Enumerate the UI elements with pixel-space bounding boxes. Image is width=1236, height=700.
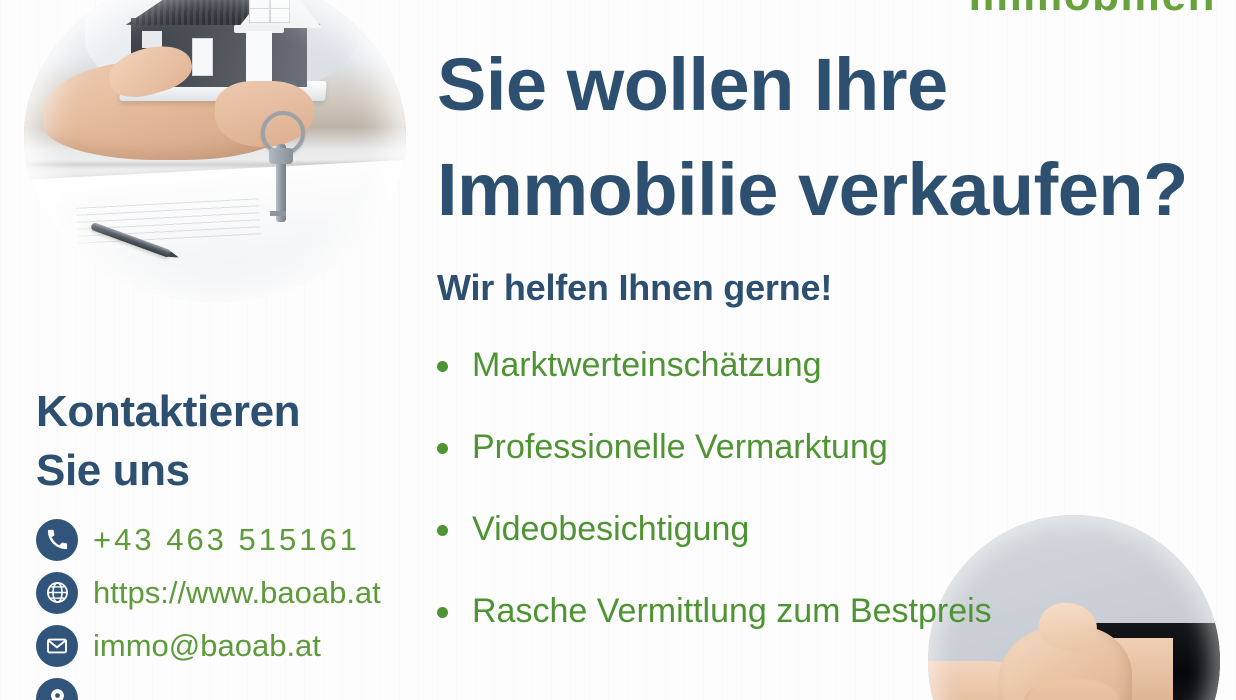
house-photo-model-door — [246, 31, 273, 87]
house-photo — [24, 0, 406, 302]
contact-email-value: immo@baoab.at — [93, 629, 321, 663]
contact-heading-line-2: Sie uns — [36, 441, 406, 500]
phone-icon — [36, 519, 78, 561]
benefit-label: Rasche Vermittlung zum Bestpreis — [472, 591, 992, 632]
page-title: Sie wollen Ihre Immobilie verkaufen? — [437, 32, 1217, 242]
contact-website-value: https://www.baoab.at — [93, 576, 381, 610]
house-photo-model-window-side — [192, 38, 213, 76]
globe-icon — [36, 572, 78, 614]
list-item: Rasche Vermittlung zum Bestpreis — [437, 591, 1217, 632]
bullet-dot-icon — [437, 525, 448, 536]
contact-phone-value: +43 463 515161 — [93, 523, 360, 557]
envelope-icon — [36, 625, 78, 667]
contact-row-address[interactable] — [36, 678, 406, 700]
headline-line-1: Sie wollen Ihre — [437, 32, 1217, 137]
benefit-label: Videobesichtigung — [472, 509, 749, 550]
main-message-column: Sie wollen Ihre Immobilie verkaufen? Wir… — [437, 32, 1217, 673]
flyer-page: Immobilien — [0, 0, 1236, 700]
house-photo-key — [276, 144, 286, 222]
brand-logo-text: Immobilien — [756, 0, 1216, 12]
benefits-list: Marktwerteinschätzung Professionelle Ver… — [437, 345, 1217, 631]
contact-row-phone[interactable]: +43 463 515161 — [36, 519, 406, 561]
subheadline: Wir helfen Ihnen gerne! — [437, 266, 1217, 309]
benefit-label: Professionelle Vermarktung — [472, 427, 888, 468]
headline-line-2: Immobilie verkaufen? — [437, 137, 1217, 242]
contact-row-email[interactable]: immo@baoab.at — [36, 625, 406, 667]
list-item: Professionelle Vermarktung — [437, 427, 1217, 468]
bullet-dot-icon — [437, 443, 448, 454]
contact-heading: Kontaktieren Sie uns — [36, 382, 406, 501]
benefit-label: Marktwerteinschätzung — [472, 345, 822, 386]
contact-heading-line-1: Kontaktieren — [36, 382, 406, 441]
list-item: Marktwerteinschätzung — [437, 345, 1217, 386]
list-item: Videobesichtigung — [437, 509, 1217, 550]
location-pin-icon — [36, 678, 78, 700]
bullet-dot-icon — [437, 361, 448, 372]
contact-block: Kontaktieren Sie uns +43 463 515161 — [36, 382, 406, 700]
bullet-dot-icon — [437, 607, 448, 618]
brand-logo: Immobilien — [756, 0, 1216, 12]
contact-row-website[interactable]: https://www.baoab.at — [36, 572, 406, 614]
house-photo-model-window-upper — [249, 0, 289, 23]
